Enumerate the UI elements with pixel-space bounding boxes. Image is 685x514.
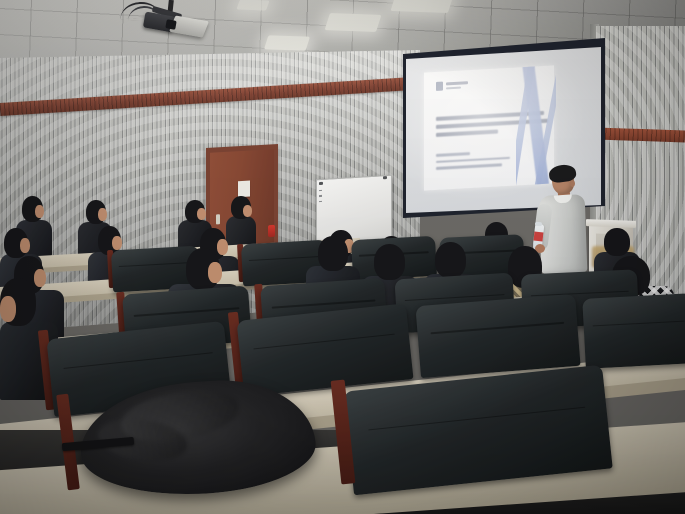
lecture-hall-photo: Lecture hall seminar photograph A male p… xyxy=(0,0,685,514)
whiteboard-marks xyxy=(319,190,322,208)
door-handle[interactable] xyxy=(216,214,220,224)
door-sign xyxy=(238,181,250,198)
university-logo xyxy=(436,80,470,93)
seat-back[interactable] xyxy=(582,293,685,369)
seat-back[interactable] xyxy=(415,294,580,378)
projector-lens-icon xyxy=(165,19,176,30)
whiteboard-clip xyxy=(383,176,387,179)
presenter-ear xyxy=(570,180,575,187)
whiteboard-clip xyxy=(319,182,323,185)
bottle-label xyxy=(534,232,544,242)
bottle-cap xyxy=(535,222,542,227)
drink-cup xyxy=(268,225,275,237)
